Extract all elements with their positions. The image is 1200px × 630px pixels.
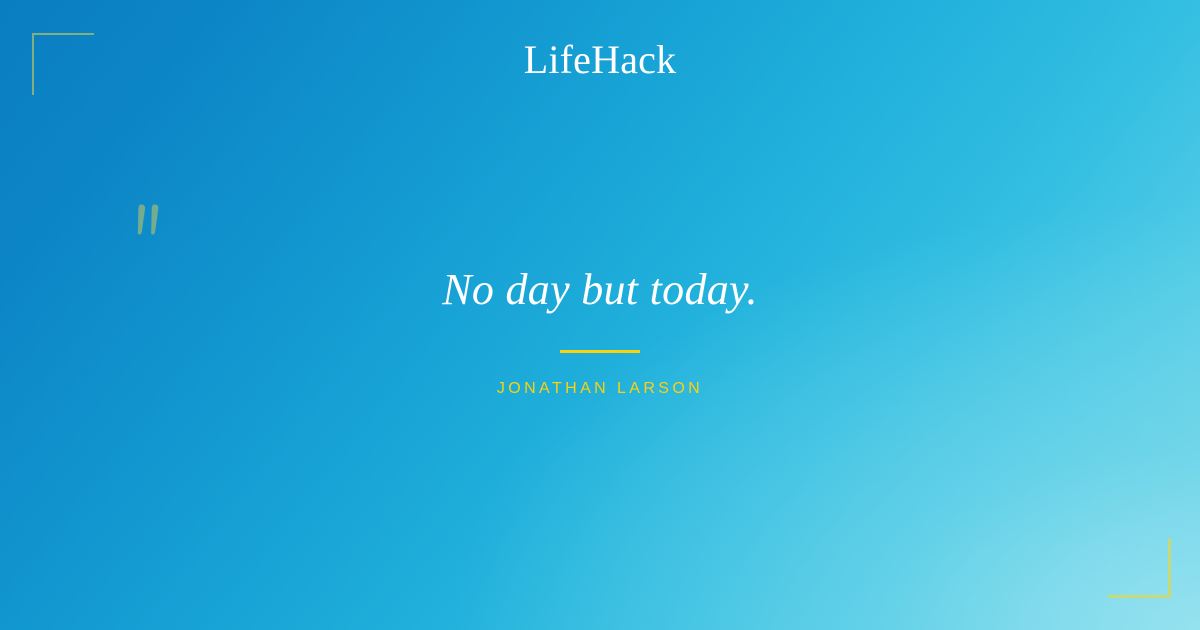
brand-logo: LifeHack [0, 38, 1200, 82]
quote-card: LifeHack No day but today. JONATHAN LARS… [0, 0, 1200, 630]
quote-content: No day but today. JONATHAN LARSON [0, 262, 1200, 399]
quote-author: JONATHAN LARSON [0, 379, 1200, 398]
quotation-mark-icon [130, 200, 176, 246]
quote-text: No day but today. [0, 262, 1200, 318]
quote-divider [560, 350, 640, 353]
corner-bracket-bottom-right-icon [1108, 538, 1171, 598]
